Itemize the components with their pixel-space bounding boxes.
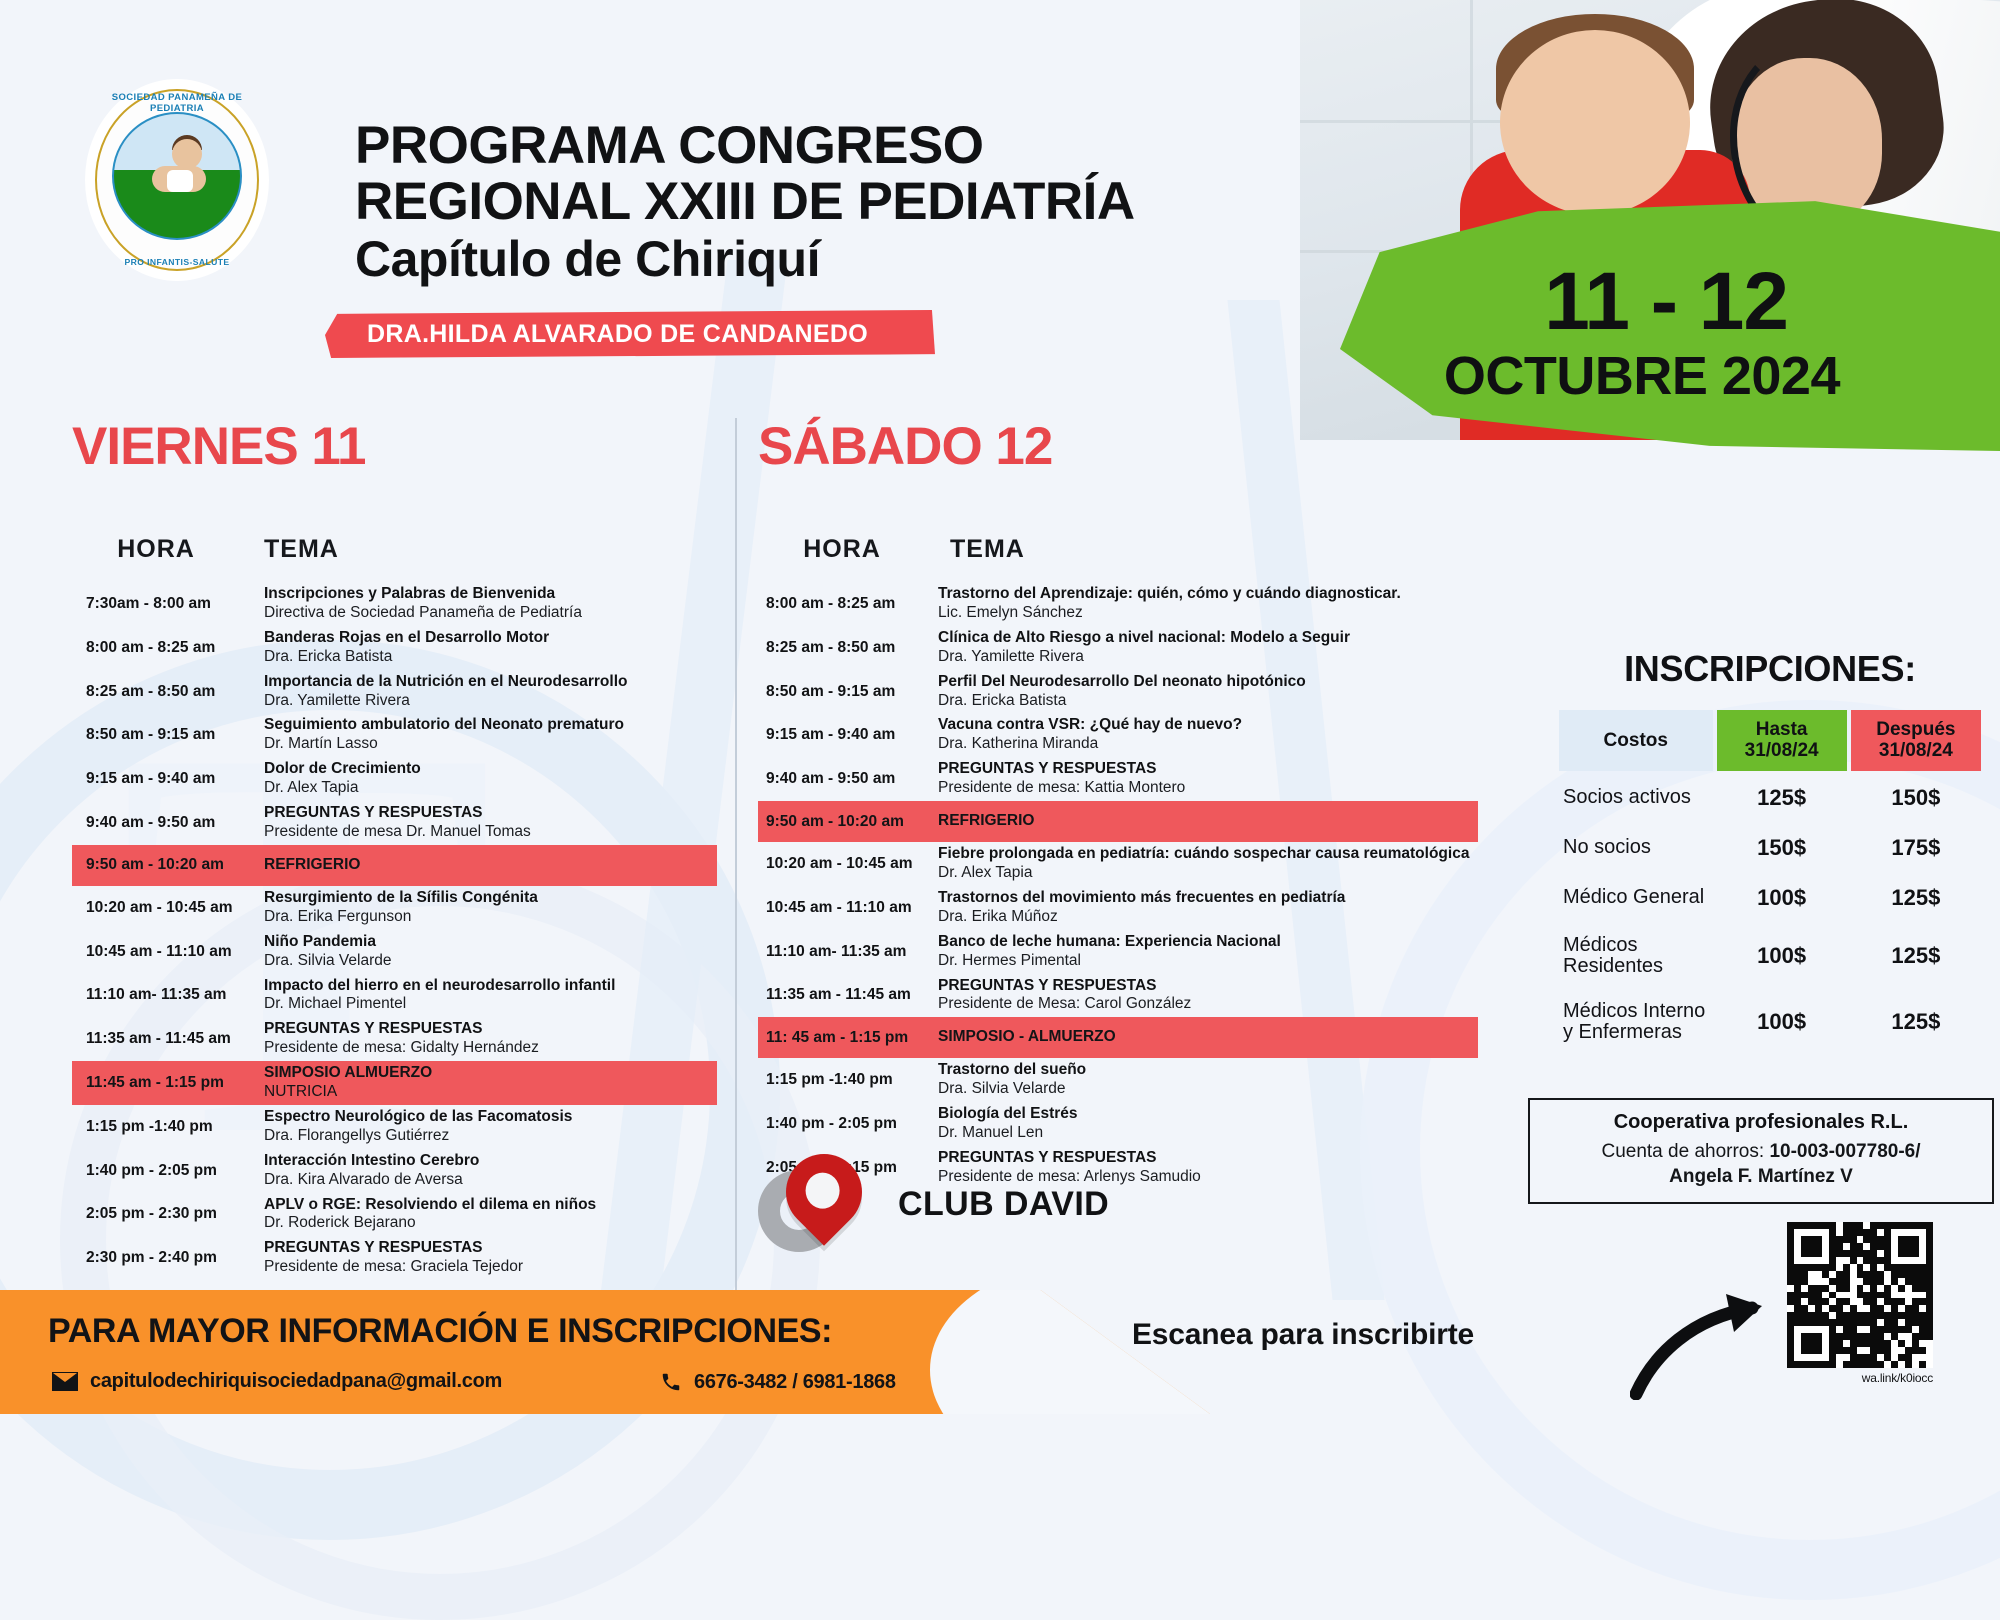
- friday-hora-label: HORA: [117, 535, 195, 563]
- schedule-row: 9:15 am - 9:40 amVacuna contra VSR: ¿Qué…: [758, 713, 1478, 757]
- bank-name: Cooperativa profesionales R.L.: [1542, 1111, 1980, 1134]
- schedule-time: 10:45 am - 11:10 am: [758, 899, 936, 917]
- footer-email[interactable]: capitulodechiriquisociedadpana@gmail.com: [90, 1370, 502, 1393]
- price-row: Médico General100$125$: [1559, 875, 1981, 921]
- price-row-early: 100$: [1717, 875, 1847, 921]
- schedule-topic-speaker: Dra. Silvia Velarde: [938, 1080, 1478, 1099]
- child-head: [1500, 30, 1690, 215]
- schedule-topic-speaker: Presidente de mesa: Graciela Tejedor: [264, 1258, 717, 1277]
- schedule-row: 11:10 am- 11:35 amImpacto del hierro en …: [72, 974, 717, 1018]
- price-row-label: Médicos Residentes: [1559, 925, 1713, 987]
- schedule-time: 7:30am - 8:00 am: [72, 595, 262, 613]
- schedule-time: 10:20 am - 10:45 am: [72, 899, 262, 917]
- price-row-label: Médico General: [1559, 875, 1713, 921]
- qr-caption: wa.link/k0iocc: [1787, 1371, 1933, 1385]
- column-divider: [735, 418, 737, 1298]
- schedule-topic: Trastorno del sueñoDra. Silvia Velarde: [936, 1058, 1478, 1102]
- title-line-3: Capítulo de Chiriquí: [355, 230, 1135, 289]
- date-month-year: OCTUBRE 2024: [1444, 345, 1840, 407]
- phone-icon: [660, 1370, 682, 1394]
- bank-account-number: 10-003-007780-6/: [1769, 1141, 1920, 1162]
- price-header-early-line1: Hasta: [1721, 719, 1843, 740]
- footer-phone-row[interactable]: 6676-3482 / 6981-1868: [660, 1370, 896, 1394]
- schedule-time: 1:15 pm -1:40 pm: [72, 1118, 262, 1136]
- friday-title: VIERNES 11: [72, 420, 717, 473]
- schedule-time: 9:50 am - 10:20 am: [72, 856, 262, 874]
- schedule-time: 2:05 pm - 2:30 pm: [72, 1205, 262, 1223]
- schedule-row: 8:50 am - 9:15 amSeguimiento ambulatorio…: [72, 713, 717, 757]
- schedule-time: 8:50 am - 9:15 am: [72, 726, 262, 744]
- schedule-topic: SIMPOSIO - ALMUERZO: [936, 1025, 1478, 1050]
- schedule-row: 1:40 pm - 2:05 pmInteracción Intestino C…: [72, 1149, 717, 1193]
- logo-arc-top-text: SOCIEDAD PANAMEÑA DE PEDIATRIA: [88, 92, 266, 114]
- saturday-hora-label: HORA: [803, 535, 881, 563]
- poster-header: 11 - 12 OCTUBRE 2024 SOCIEDAD PANAMEÑA D…: [0, 0, 2000, 400]
- schedule-row: 10:45 am - 11:10 amNiño PandemiaDra. Sil…: [72, 930, 717, 974]
- schedule-topic: PREGUNTAS Y RESPUESTASPresidente de mesa…: [262, 801, 717, 845]
- saturday-table-header: HORA TEMA: [758, 535, 1478, 564]
- schedule-topic: Banderas Rojas en el Desarrollo MotorDra…: [262, 626, 717, 670]
- schedule-time: 1:40 pm - 2:05 pm: [758, 1115, 936, 1133]
- schedule-topic: PREGUNTAS Y RESPUESTASPresidente de mesa…: [262, 1017, 717, 1061]
- schedule-topic-title: Niño Pandemia: [264, 933, 717, 952]
- schedule-time: 11:10 am- 11:35 am: [72, 986, 262, 1004]
- schedule-row: 8:25 am - 8:50 amClínica de Alto Riesgo …: [758, 626, 1478, 670]
- schedule-row: 9:50 am - 10:20 amREFRIGERIO: [72, 845, 717, 886]
- bank-account-holder: Angela F. Martínez V: [1669, 1166, 1853, 1187]
- schedule-topic-speaker: Dra. Silvia Velarde: [264, 952, 717, 971]
- schedule-time: 2:30 pm - 2:40 pm: [72, 1249, 262, 1267]
- schedule-topic-speaker: Presidente de mesa: Kattia Montero: [938, 779, 1478, 798]
- price-row-late: 150$: [1851, 775, 1981, 821]
- schedule-topic: Perfil Del Neurodesarrollo Del neonato h…: [936, 670, 1478, 714]
- envelope-icon: [52, 1372, 78, 1391]
- friday-tema-label: TEMA: [264, 535, 339, 563]
- schedule-row: 2:30 pm - 2:40 pmPREGUNTAS Y RESPUESTASP…: [72, 1236, 717, 1280]
- schedule-topic-speaker: Presidente de mesa Dr. Manuel Tomas: [264, 823, 717, 842]
- saturday-schedule: 8:00 am - 8:25 amTrastorno del Aprendiza…: [758, 582, 1478, 1190]
- schedule-topic-title: REFRIGERIO: [264, 856, 717, 875]
- schedule-time: 11:10 am- 11:35 am: [758, 943, 936, 961]
- schedule-time: 8:00 am - 8:25 am: [758, 595, 936, 613]
- schedule-topic: PREGUNTAS Y RESPUESTASPresidente de Mesa…: [936, 974, 1478, 1018]
- curved-arrow-icon: [1630, 1290, 1780, 1400]
- schedule-time: 11: 45 am - 1:15 pm: [758, 1029, 936, 1047]
- schedule-row: 10:20 am - 10:45 amFiebre prolongada en …: [758, 842, 1478, 886]
- schedule-topic: Resurgimiento de la Sífilis CongénitaDra…: [262, 886, 717, 930]
- schedule-topic-title: Importancia de la Nutrición en el Neurod…: [264, 673, 717, 692]
- price-header-costos: Costos: [1559, 710, 1713, 771]
- schedule-topic-speaker: Dra. Yamilette Rivera: [264, 692, 717, 711]
- schedule-time: 11:35 am - 11:45 am: [72, 1030, 262, 1048]
- schedule-topic-title: Resurgimiento de la Sífilis Congénita: [264, 889, 717, 908]
- schedule-topic-speaker: Dra. Kira Alvarado de Aversa: [264, 1171, 717, 1190]
- schedule-topic-title: PREGUNTAS Y RESPUESTAS: [264, 1239, 717, 1258]
- schedule-topic-speaker: Dra. Erika Múñoz: [938, 908, 1478, 927]
- schedule-topic-speaker: Dra. Ericka Batista: [938, 692, 1478, 711]
- schedule-topic: PREGUNTAS Y RESPUESTASPresidente de mesa…: [262, 1236, 717, 1280]
- price-header-early: Hasta 31/08/24: [1717, 710, 1847, 771]
- registration-block: INSCRIPCIONES: Costos Hasta 31/08/24 Des…: [1555, 648, 1985, 1057]
- scan-instruction: Escanea para inscribirte: [1132, 1318, 1474, 1352]
- bank-info-box: Cooperativa profesionales R.L. Cuenta de…: [1528, 1098, 1994, 1204]
- price-row: Médicos Residentes100$125$: [1559, 925, 1981, 987]
- schedule-topic-title: Vacuna contra VSR: ¿Qué hay de nuevo?: [938, 716, 1478, 735]
- schedule-topic-title: PREGUNTAS Y RESPUESTAS: [938, 977, 1478, 996]
- schedule-topic-title: Banco de leche humana: Experiencia Nacio…: [938, 933, 1478, 952]
- date-days: 11 - 12: [1544, 255, 1788, 349]
- bank-account: Cuenta de ahorros: 10-003-007780-6/ Ange…: [1542, 1140, 1980, 1189]
- page-title: PROGRAMA CONGRESO REGIONAL XXIII DE PEDI…: [355, 118, 1135, 289]
- price-row-label: Médicos Interno y Enfermeras: [1559, 991, 1713, 1053]
- schedule-topic-title: Biología del Estrés: [938, 1105, 1478, 1124]
- schedule-row: 9:40 am - 9:50 amPREGUNTAS Y RESPUESTASP…: [758, 757, 1478, 801]
- schedule-topic-title: SIMPOSIO ALMUERZO: [264, 1064, 717, 1083]
- schedule-row: 10:45 am - 11:10 amTrastornos del movimi…: [758, 886, 1478, 930]
- schedule-topic: Niño PandemiaDra. Silvia Velarde: [262, 930, 717, 974]
- schedule-topic-speaker: Dr. Manuel Len: [938, 1124, 1478, 1143]
- society-logo: SOCIEDAD PANAMEÑA DE PEDIATRIA PRO INFAN…: [88, 82, 266, 278]
- schedule-topic: Banco de leche humana: Experiencia Nacio…: [936, 930, 1478, 974]
- schedule-topic: PREGUNTAS Y RESPUESTASPresidente de mesa…: [936, 757, 1478, 801]
- schedule-topic: Trastornos del movimiento más frecuentes…: [936, 886, 1478, 930]
- venue-label: CLUB DAVID: [898, 1185, 1109, 1224]
- title-line-1: PROGRAMA CONGRESO: [355, 118, 1135, 174]
- schedule-topic: Importancia de la Nutrición en el Neurod…: [262, 670, 717, 714]
- logo-emblem: [112, 112, 242, 240]
- schedule-time: 9:15 am - 9:40 am: [72, 770, 262, 788]
- schedule-topic-speaker: Directiva de Sociedad Panameña de Pediat…: [264, 604, 717, 623]
- schedule-time: 1:40 pm - 2:05 pm: [72, 1162, 262, 1180]
- schedule-topic-title: Interacción Intestino Cerebro: [264, 1152, 717, 1171]
- schedule-topic: Trastorno del Aprendizaje: quién, cómo y…: [936, 582, 1478, 626]
- price-header-late: Después 31/08/24: [1851, 710, 1981, 771]
- schedule-time: 9:50 am - 10:20 am: [758, 813, 936, 831]
- venue-block: CLUB DAVID: [758, 1148, 1109, 1260]
- schedule-topic-speaker: Lic. Emelyn Sánchez: [938, 604, 1478, 623]
- schedule-time: 9:15 am - 9:40 am: [758, 726, 936, 744]
- schedule-time: 8:25 am - 8:50 am: [758, 639, 936, 657]
- schedule-topic-speaker: Dr. Roderick Bejarano: [264, 1214, 717, 1233]
- price-row-early: 100$: [1717, 991, 1847, 1053]
- schedule-row: 11:10 am- 11:35 amBanco de leche humana:…: [758, 930, 1478, 974]
- schedule-topic: Vacuna contra VSR: ¿Qué hay de nuevo?Dra…: [936, 713, 1478, 757]
- schedule-time: 9:40 am - 9:50 am: [72, 814, 262, 832]
- schedule-topic-title: Trastornos del movimiento más frecuentes…: [938, 889, 1478, 908]
- price-table: Costos Hasta 31/08/24 Después 31/08/24 S…: [1555, 706, 1985, 1057]
- schedule-row: 8:50 am - 9:15 amPerfil Del Neurodesarro…: [758, 670, 1478, 714]
- bank-account-label: Cuenta de ahorros:: [1601, 1141, 1764, 1162]
- price-row-early: 125$: [1717, 775, 1847, 821]
- schedule-topic: Dolor de CrecimientoDr. Alex Tapia: [262, 757, 717, 801]
- schedule-topic-title: PREGUNTAS Y RESPUESTAS: [938, 760, 1478, 779]
- schedule-time: 8:00 am - 8:25 am: [72, 639, 262, 657]
- schedule-topic-speaker: NUTRICIA: [264, 1083, 717, 1102]
- schedule-topic-speaker: Dra. Ericka Batista: [264, 648, 717, 667]
- schedule-row: 1:15 pm -1:40 pmEspectro Neurológico de …: [72, 1105, 717, 1149]
- schedule-topic: Seguimiento ambulatorio del Neonato prem…: [262, 713, 717, 757]
- schedule-time: 9:40 am - 9:50 am: [758, 770, 936, 788]
- schedule-row: 9:40 am - 9:50 amPREGUNTAS Y RESPUESTASP…: [72, 801, 717, 845]
- schedule-row: 7:30am - 8:00 amInscripciones y Palabras…: [72, 582, 717, 626]
- schedule-topic-speaker: Dr. Alex Tapia: [938, 864, 1478, 883]
- price-table-header-row: Costos Hasta 31/08/24 Después 31/08/24: [1559, 710, 1981, 771]
- saturday-title: SÁBADO 12: [758, 420, 1478, 473]
- schedule-topic-title: APLV o RGE: Resolviendo el dilema en niñ…: [264, 1196, 717, 1215]
- schedule-topic: APLV o RGE: Resolviendo el dilema en niñ…: [262, 1193, 717, 1237]
- schedule-row: 11: 45 am - 1:15 pmSIMPOSIO - ALMUERZO: [758, 1017, 1478, 1058]
- friday-table-header: HORA TEMA: [72, 535, 717, 564]
- footer-phones[interactable]: 6676-3482 / 6981-1868: [694, 1371, 896, 1394]
- honoree-banner: DRA.HILDA ALVARADO DE CANDANEDO: [325, 310, 935, 358]
- schedule-topic-title: Dolor de Crecimiento: [264, 760, 717, 779]
- price-row: No socios150$175$: [1559, 825, 1981, 871]
- schedule-time: 8:50 am - 9:15 am: [758, 683, 936, 701]
- price-row-label: No socios: [1559, 825, 1713, 871]
- schedule-time: 11:35 am - 11:45 am: [758, 986, 936, 1004]
- registration-title: INSCRIPCIONES:: [1555, 648, 1985, 690]
- schedule-row: 10:20 am - 10:45 amResurgimiento de la S…: [72, 886, 717, 930]
- schedule-topic-speaker: Dra. Katherina Miranda: [938, 735, 1478, 754]
- schedule-topic-speaker: Dr. Hermes Pimental: [938, 952, 1478, 971]
- schedule-topic-title: Trastorno del Aprendizaje: quién, cómo y…: [938, 585, 1478, 604]
- schedule-time: 10:45 am - 11:10 am: [72, 943, 262, 961]
- schedule-topic-title: REFRIGERIO: [938, 812, 1478, 831]
- schedule-topic-speaker: Presidente de Mesa: Carol González: [938, 995, 1478, 1014]
- schedule-topic-title: Trastorno del sueño: [938, 1061, 1478, 1080]
- schedule-topic-title: Inscripciones y Palabras de Bienvenida: [264, 585, 717, 604]
- schedule-row: 11:45 am - 1:15 pmSIMPOSIO ALMUERZONUTRI…: [72, 1061, 717, 1105]
- schedule-topic-title: Fiebre prolongada en pediatría: cuándo s…: [938, 845, 1478, 864]
- schedule-topic: Clínica de Alto Riesgo a nivel nacional:…: [936, 626, 1478, 670]
- schedule-topic-title: PREGUNTAS Y RESPUESTAS: [264, 804, 717, 823]
- price-row-label: Socios activos: [1559, 775, 1713, 821]
- schedule-row: 11:35 am - 11:45 amPREGUNTAS Y RESPUESTA…: [758, 974, 1478, 1018]
- price-header-late-line1: Después: [1855, 719, 1977, 740]
- schedule-topic-speaker: Dr. Alex Tapia: [264, 779, 717, 798]
- schedule-topic: SIMPOSIO ALMUERZONUTRICIA: [262, 1061, 717, 1105]
- footer-curve-decor: [930, 1290, 1210, 1414]
- schedule-topic: REFRIGERIO: [936, 809, 1478, 834]
- title-line-2: REGIONAL XXIII DE PEDIATRÍA: [355, 174, 1135, 230]
- schedule-topic: Espectro Neurológico de las FacomatosisD…: [262, 1105, 717, 1149]
- contact-footer: PARA MAYOR INFORMACIÓN E INSCRIPCIONES: …: [0, 1290, 1210, 1414]
- schedule-row: 9:15 am - 9:40 amDolor de CrecimientoDr.…: [72, 757, 717, 801]
- schedule-topic-speaker: Dr. Michael Pimentel: [264, 995, 717, 1014]
- footer-email-row[interactable]: capitulodechiriquisociedadpana@gmail.com: [52, 1370, 502, 1393]
- schedule-topic-title: PREGUNTAS Y RESPUESTAS: [264, 1020, 717, 1039]
- schedule-topic: Biología del EstrésDr. Manuel Len: [936, 1102, 1478, 1146]
- schedule-topic-title: SIMPOSIO - ALMUERZO: [938, 1028, 1478, 1047]
- location-pin-icon: [758, 1148, 876, 1260]
- schedule-time: 8:25 am - 8:50 am: [72, 683, 262, 701]
- price-row-late: 175$: [1851, 825, 1981, 871]
- schedule-topic-speaker: Dr. Martín Lasso: [264, 735, 717, 754]
- schedule-time: 10:20 am - 10:45 am: [758, 855, 936, 873]
- qr-code[interactable]: [1787, 1222, 1933, 1368]
- price-row: Socios activos125$150$: [1559, 775, 1981, 821]
- schedule-topic-title: Banderas Rojas en el Desarrollo Motor: [264, 629, 717, 648]
- schedule-topic: Impacto del hierro en el neurodesarrollo…: [262, 974, 717, 1018]
- schedule-topic: REFRIGERIO: [262, 853, 717, 878]
- price-row-late: 125$: [1851, 991, 1981, 1053]
- schedule-topic-speaker: Dra. Yamilette Rivera: [938, 648, 1478, 667]
- footer-title: PARA MAYOR INFORMACIÓN E INSCRIPCIONES:: [48, 1312, 832, 1351]
- saturday-tema-label: TEMA: [950, 535, 1025, 563]
- price-row-late: 125$: [1851, 875, 1981, 921]
- schedule-topic: Interacción Intestino CerebroDra. Kira A…: [262, 1149, 717, 1193]
- price-row-early: 100$: [1717, 925, 1847, 987]
- logo-arc-bottom-text: PRO INFANTIS-SALUTE: [88, 257, 266, 267]
- schedule-row: 1:15 pm -1:40 pmTrastorno del sueñoDra. …: [758, 1058, 1478, 1102]
- price-row: Médicos Interno y Enfermeras100$125$: [1559, 991, 1981, 1053]
- price-row-late: 125$: [1851, 925, 1981, 987]
- schedule-topic-title: Seguimiento ambulatorio del Neonato prem…: [264, 716, 717, 735]
- honoree-name: DRA.HILDA ALVARADO DE CANDANEDO: [367, 320, 868, 349]
- schedule-row: 8:25 am - 8:50 amImportancia de la Nutri…: [72, 670, 717, 714]
- schedule-row: 2:05 pm - 2:30 pmAPLV o RGE: Resolviendo…: [72, 1193, 717, 1237]
- schedule-topic-title: Clínica de Alto Riesgo a nivel nacional:…: [938, 629, 1478, 648]
- schedule-topic-title: Espectro Neurológico de las Facomatosis: [264, 1108, 717, 1127]
- friday-schedule: 7:30am - 8:00 amInscripciones y Palabras…: [72, 582, 717, 1280]
- schedule-row: 11:35 am - 11:45 amPREGUNTAS Y RESPUESTA…: [72, 1017, 717, 1061]
- price-row-early: 150$: [1717, 825, 1847, 871]
- schedule-row: 8:00 am - 8:25 amTrastorno del Aprendiza…: [758, 582, 1478, 626]
- schedule-topic-title: Perfil Del Neurodesarrollo Del neonato h…: [938, 673, 1478, 692]
- qr-block[interactable]: wa.link/k0iocc: [1787, 1222, 1933, 1385]
- schedule-topic-title: Impacto del hierro en el neurodesarrollo…: [264, 977, 717, 996]
- schedule-row: 8:00 am - 8:25 amBanderas Rojas en el De…: [72, 626, 717, 670]
- schedule-topic: Fiebre prolongada en pediatría: cuándo s…: [936, 842, 1478, 886]
- schedule-topic: Inscripciones y Palabras de BienvenidaDi…: [262, 582, 717, 626]
- schedule-topic-speaker: Dra. Florangellys Gutiérrez: [264, 1127, 717, 1146]
- schedule-topic-speaker: Presidente de mesa: Gidalty Hernández: [264, 1039, 717, 1058]
- schedule-time: 1:15 pm -1:40 pm: [758, 1071, 936, 1089]
- schedule-row: 1:40 pm - 2:05 pmBiología del EstrésDr. …: [758, 1102, 1478, 1146]
- schedule-time: 11:45 am - 1:15 pm: [72, 1074, 262, 1092]
- schedule-topic-speaker: Dra. Erika Fergunson: [264, 908, 717, 927]
- price-header-early-line2: 31/08/24: [1721, 740, 1843, 761]
- schedule-row: 9:50 am - 10:20 amREFRIGERIO: [758, 801, 1478, 842]
- price-header-late-line2: 31/08/24: [1855, 740, 1977, 761]
- saturday-column: SÁBADO 12 HORA TEMA 8:00 am - 8:25 amTra…: [758, 420, 1478, 1190]
- friday-column: VIERNES 11 HORA TEMA 7:30am - 8:00 amIns…: [72, 420, 717, 1280]
